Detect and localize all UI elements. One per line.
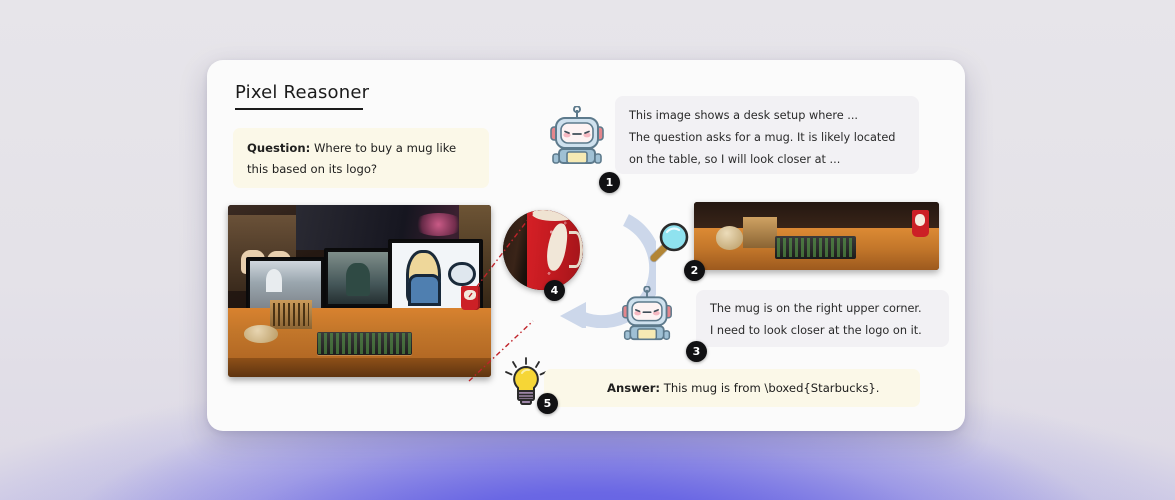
reasoning-bubble-1: This image shows a desk setup where ... … xyxy=(615,96,919,174)
desk-bowl xyxy=(244,325,278,342)
reasoning-line: I need to look closer at the logo on it. xyxy=(710,320,935,342)
desk-organizer xyxy=(270,300,312,329)
desk-edge xyxy=(228,358,491,377)
robot-icon xyxy=(620,286,674,344)
reasoning-line: on the table, so I will look closer at .… xyxy=(629,149,905,171)
cropped-desk-scene xyxy=(694,202,939,270)
answer-line: Answer: This mug is from \boxed{Starbuck… xyxy=(607,381,879,395)
answer-value: This mug is from \boxed{Starbucks}. xyxy=(664,381,880,395)
magnifier-icon xyxy=(647,217,695,265)
question-line-1: Question: Where to buy a mug like xyxy=(247,138,477,159)
mechanical-keyboard xyxy=(317,332,412,354)
step-badge-3: 3 xyxy=(686,341,707,362)
cropped-background xyxy=(694,202,939,229)
question-box: Question: Where to buy a mug like this b… xyxy=(233,128,489,188)
cropped-desk-image[interactable] xyxy=(694,202,939,270)
question-text-1: Where to buy a mug like xyxy=(314,141,456,155)
title-underline xyxy=(235,108,363,110)
desk-scene xyxy=(228,205,491,377)
reasoning-bubble-2: The mug is on the right upper corner. I … xyxy=(696,290,949,347)
answer-label: Answer: xyxy=(607,381,660,395)
step-badge-2: 2 xyxy=(684,260,705,281)
reasoning-line: The question asks for a mug. It is likel… xyxy=(629,127,905,149)
reasoning-line: This image shows a desk setup where ... xyxy=(629,105,905,127)
cropped-bowl xyxy=(716,226,743,249)
step-badge-5: 5 xyxy=(537,393,558,414)
cropped-red-mug xyxy=(912,210,929,237)
question-label: Question: xyxy=(247,141,310,155)
input-desk-photo[interactable] xyxy=(228,205,491,377)
question-line-2: this based on its logo? xyxy=(247,159,477,180)
cropped-organizer xyxy=(743,217,777,248)
reasoning-line: The mug is on the right upper corner. xyxy=(710,298,935,320)
cropped-keyboard xyxy=(775,236,856,259)
monitor-center xyxy=(324,248,392,308)
answer-box: Answer: This mug is from \boxed{Starbuck… xyxy=(544,369,920,407)
robot-icon xyxy=(548,106,606,168)
figure-card: Pixel Reasoner Question: Where to buy a … xyxy=(207,60,965,431)
step-badge-1: 1 xyxy=(599,172,620,193)
page-title-text: Pixel Reasoner xyxy=(235,82,369,108)
step-badge-4: 4 xyxy=(544,280,565,301)
page-title: Pixel Reasoner xyxy=(235,82,369,110)
